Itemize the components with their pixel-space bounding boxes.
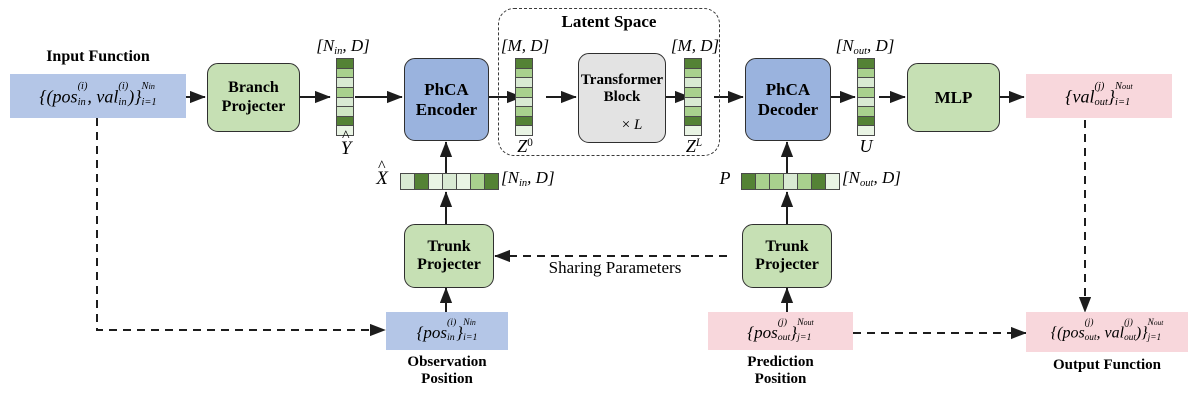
token-cell: [429, 174, 443, 189]
token-cell: [337, 98, 353, 108]
zl-name-label: ZL: [674, 136, 714, 157]
token-cell: [858, 107, 874, 117]
token-cell: [742, 174, 756, 189]
branch-projecter-block[interactable]: Branch Projecter: [207, 63, 300, 132]
token-cell: [337, 69, 353, 79]
trunk-projecter-right-block[interactable]: Trunk Projecter: [742, 224, 832, 288]
token-cell: [337, 107, 353, 117]
token-cell: [516, 98, 532, 108]
token-cell: [770, 174, 784, 189]
token-cell: [685, 88, 701, 98]
observation-position-box: {pos(i)in}Nini=1: [386, 312, 508, 350]
mlp-output-math: {val(j)out}Nouti=1: [1065, 85, 1132, 106]
observation-position-title: Observation Position: [386, 354, 508, 389]
token-cell: [516, 88, 532, 98]
phca-decoder-label: PhCA Decoder: [758, 80, 818, 119]
token-cell: [812, 174, 826, 189]
transformer-repeat-label: × L: [606, 117, 658, 134]
branch-projecter-label: Branch Projecter: [222, 79, 286, 116]
prediction-position-math: {pos(j)out}Noutj=1: [747, 321, 814, 341]
p-shape-label: [Nout, D]: [842, 168, 938, 188]
input-function-title: Input Function: [10, 48, 186, 66]
xhat-name-label: X: [366, 168, 398, 190]
token-cell: [337, 59, 353, 69]
observation-position-math: {pos(i)in}Nini=1: [417, 321, 478, 341]
phca-encoder-label: PhCA Encoder: [416, 80, 477, 119]
token-cell: [516, 69, 532, 79]
token-cell: [826, 174, 839, 189]
token-cell: [756, 174, 770, 189]
token-cell: [471, 174, 485, 189]
phca-encoder-block[interactable]: PhCA Encoder: [404, 58, 489, 141]
mlp-label: MLP: [935, 88, 973, 108]
token-cell: [685, 117, 701, 127]
prediction-position-line2: Position: [755, 371, 807, 387]
token-cell: [685, 78, 701, 88]
p-token-strip: [741, 173, 840, 190]
token-cell: [685, 98, 701, 108]
token-cell: [685, 59, 701, 69]
z0-token-strip: [515, 58, 533, 136]
p-name-label: P: [713, 168, 737, 189]
token-cell: [784, 174, 798, 189]
yhat-token-strip: [336, 58, 354, 136]
xhat-shape-label: [Nin, D]: [501, 168, 591, 188]
token-cell: [685, 107, 701, 117]
token-cell: [685, 69, 701, 79]
phca-decoder-block[interactable]: PhCA Decoder: [745, 58, 831, 141]
architecture-diagram: Latent Space Input Function {(pos(i)in, …: [0, 0, 1197, 405]
yhat-name-label: Y: [325, 138, 367, 160]
output-function-box: {(pos(j)out, val(j)out)}Noutj=1: [1026, 312, 1188, 352]
token-cell: [337, 117, 353, 127]
token-cell: [337, 78, 353, 88]
input-function-box: {(pos(i)in, val(i)in)}Nini=1: [10, 74, 186, 118]
mlp-block[interactable]: MLP: [907, 63, 1000, 132]
token-cell: [516, 107, 532, 117]
u-shape-label: [Nout, D]: [820, 36, 910, 56]
input-function-math: {(pos(i)in, val(i)in)}Nini=1: [39, 85, 156, 106]
token-cell: [798, 174, 812, 189]
token-cell: [516, 78, 532, 88]
xhat-token-strip: [400, 173, 499, 190]
token-cell: [685, 126, 701, 135]
trunk-projecter-left-block[interactable]: Trunk Projecter: [404, 224, 494, 288]
u-token-strip: [857, 58, 875, 136]
prediction-position-box: {pos(j)out}Noutj=1: [708, 312, 853, 350]
trunk-projecter-right-label: Trunk Projecter: [755, 238, 819, 275]
token-cell: [858, 117, 874, 127]
token-cell: [858, 126, 874, 135]
token-cell: [858, 78, 874, 88]
prediction-position-title: Prediction Position: [708, 354, 853, 389]
observation-position-line2: Position: [421, 371, 473, 387]
sharing-parameters-label: Sharing Parameters: [515, 258, 715, 278]
token-cell: [443, 174, 457, 189]
z0-shape-label: [M, D]: [489, 36, 561, 56]
token-cell: [858, 88, 874, 98]
mlp-output-box: {val(j)out}Nouti=1: [1026, 74, 1172, 118]
output-function-math: {(pos(j)out, val(j)out)}Noutj=1: [1051, 322, 1164, 341]
token-cell: [858, 69, 874, 79]
trunk-projecter-left-label: Trunk Projecter: [417, 238, 481, 275]
zl-shape-label: [M, D]: [659, 36, 731, 56]
token-cell: [485, 174, 498, 189]
token-cell: [516, 59, 532, 69]
token-cell: [401, 174, 415, 189]
transformer-block-label: Transformer Block: [581, 72, 663, 107]
token-cell: [516, 126, 532, 135]
z0-name-label: Z0: [505, 136, 545, 157]
observation-position-line1: Observation: [407, 354, 486, 370]
u-name-label: U: [848, 136, 884, 157]
token-cell: [415, 174, 429, 189]
output-function-title: Output Function: [1026, 357, 1188, 374]
latent-space-label: Latent Space: [498, 12, 720, 32]
yhat-shape-label: [Nin, D]: [303, 36, 383, 56]
token-cell: [516, 117, 532, 127]
token-cell: [858, 98, 874, 108]
prediction-position-line1: Prediction: [747, 354, 813, 370]
zl-token-strip: [684, 58, 702, 136]
token-cell: [858, 59, 874, 69]
token-cell: [337, 88, 353, 98]
token-cell: [457, 174, 471, 189]
